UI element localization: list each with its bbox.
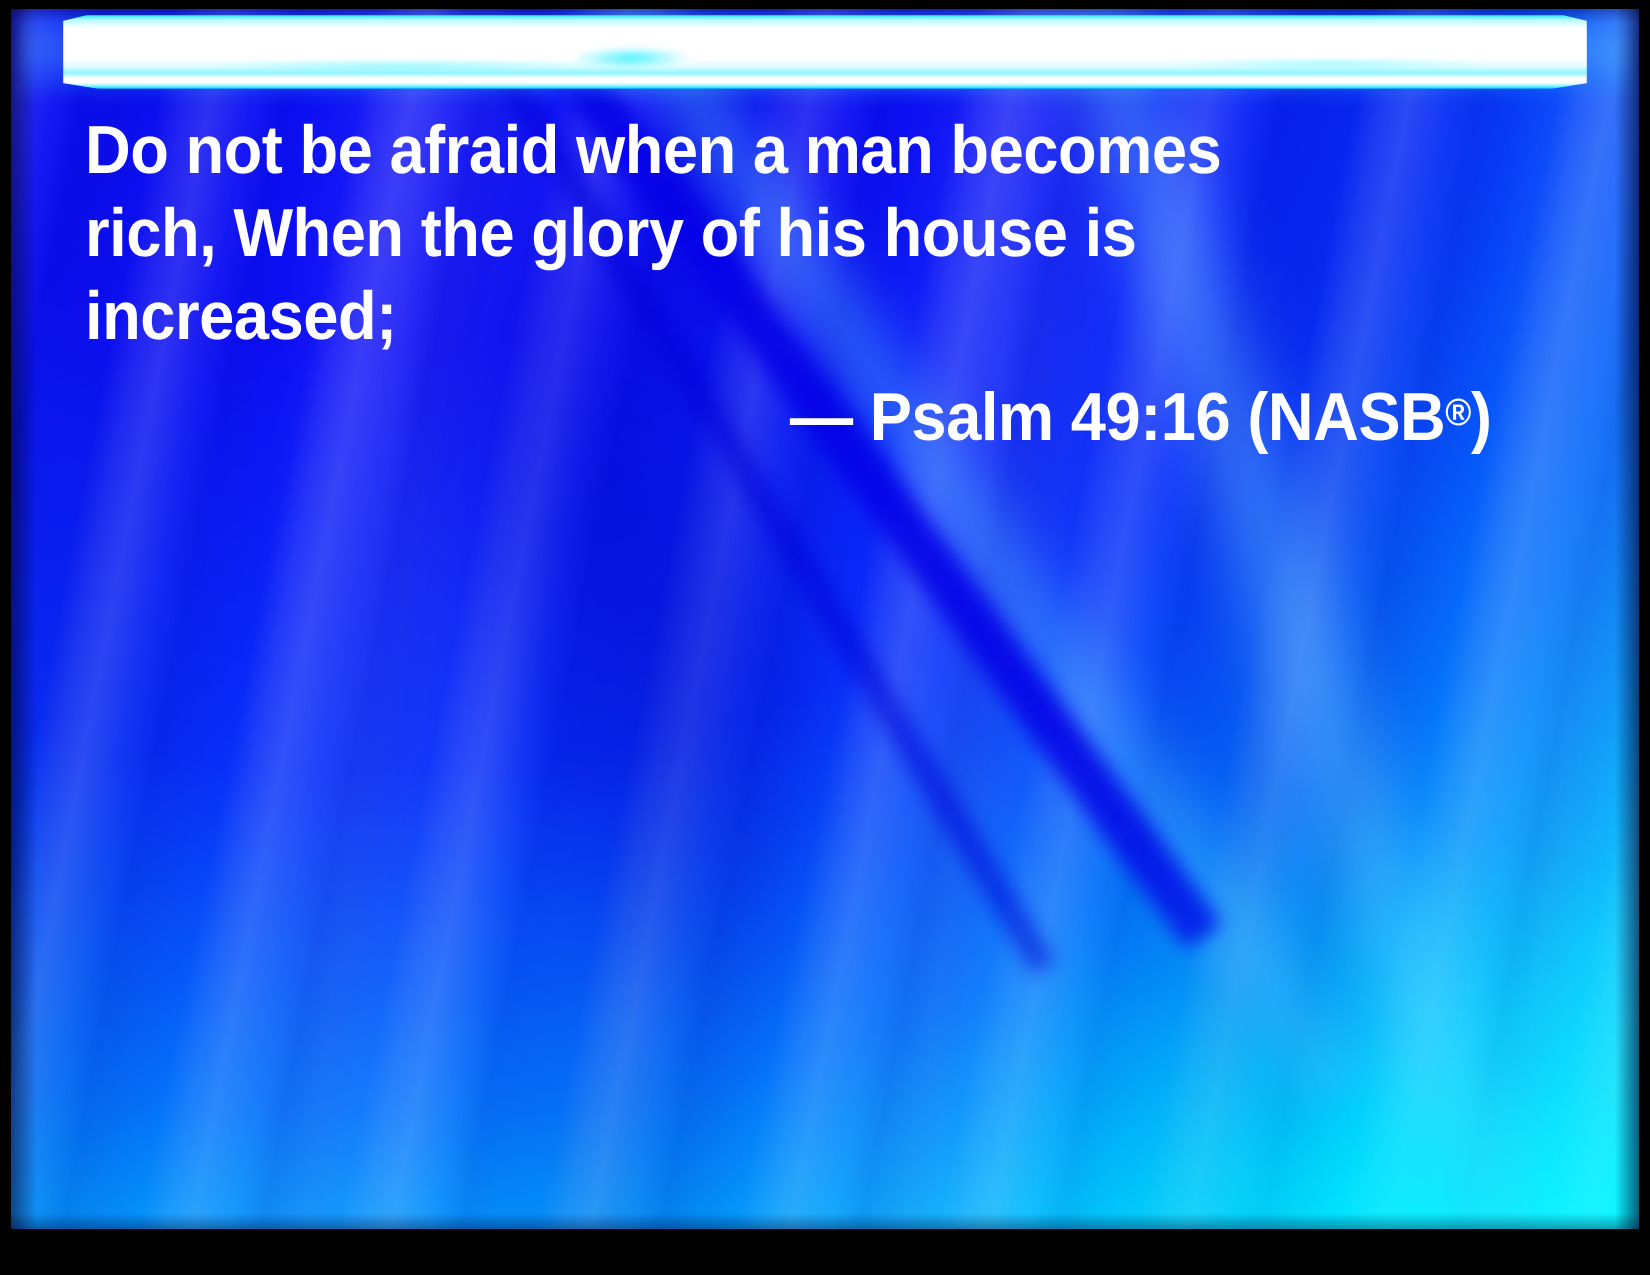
verse-reference: — Psalm 49:16 (NASB®): [789, 376, 1491, 459]
verse-reference-prefix: — Psalm 49:16 (NASB: [789, 379, 1444, 455]
verse-reference-suffix: ): [1470, 379, 1491, 455]
registered-trademark-icon: ®: [1445, 392, 1471, 434]
verse-text: Do not be afraid when a man becomes rich…: [85, 109, 1313, 358]
slide-content: Do not be afraid when a man becomes rich…: [11, 9, 1639, 1229]
verse-slide: Do not be afraid when a man becomes rich…: [0, 0, 1650, 1275]
slide-panel: Do not be afraid when a man becomes rich…: [11, 9, 1639, 1229]
